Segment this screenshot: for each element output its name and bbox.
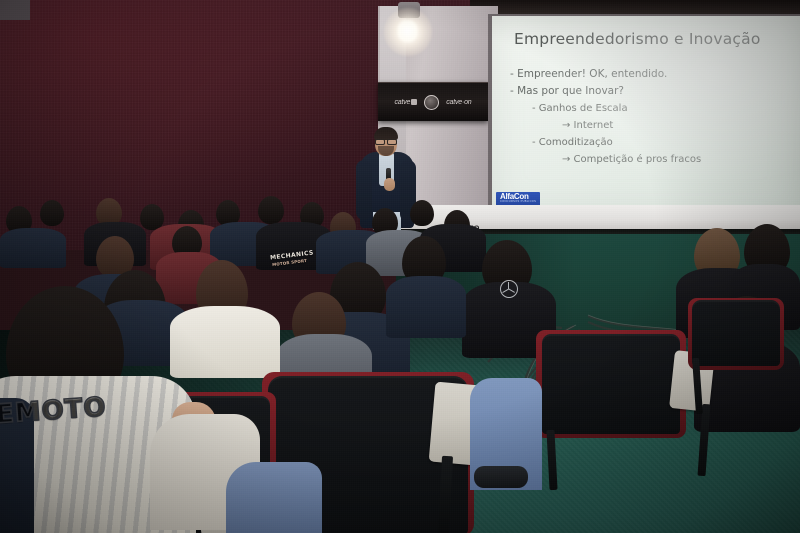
wall-panel-left [0, 0, 30, 20]
slide-body: - Empreender! OK, entendido. - Mas por q… [510, 66, 796, 168]
slide-bullet: - Comoditização [510, 134, 796, 151]
audience-body [386, 276, 466, 338]
audience-sweater [170, 306, 280, 378]
banner-circle-icon [424, 95, 439, 110]
slide-bullet: → Competição é pros fracos [510, 151, 796, 168]
audience-head [40, 200, 64, 226]
ceiling-lamp-core [398, 20, 417, 42]
audience-shoe [474, 466, 528, 488]
slide-bullet: - Ganhos de Escala [510, 100, 796, 117]
slide-bullet: → Internet [510, 117, 796, 134]
audience-jeans [226, 462, 322, 533]
speaker-hand [384, 178, 395, 191]
banner-square-icon [411, 99, 417, 105]
alfacon-logo: AlfaCon CONCURSOS PUBLICOS [496, 192, 540, 206]
audience-head [410, 200, 434, 226]
auditorium-photo: catve catve·on Empreendedorismo e Inovaç… [0, 0, 800, 533]
mercedes-star-icon [500, 280, 518, 298]
slide-title: Empreendedorismo e Inovação [514, 30, 800, 48]
alfacon-logo-tagline: CONCURSOS PUBLICOS [500, 201, 536, 204]
slide-bullet: - Empreender! OK, entendido. [510, 66, 796, 83]
banner-logo-left: catve [395, 99, 418, 106]
projection-screen: Empreendedorismo e Inovação - Empreender… [492, 16, 800, 212]
audience-head [258, 196, 284, 224]
glasses-icon [375, 139, 397, 143]
slide-bullet: - Mas por que Inovar? [510, 83, 796, 100]
banner-logo-right: catve·on [446, 99, 471, 106]
audience-body [0, 228, 66, 268]
chair-backrest [542, 334, 680, 434]
catve-banner-sign: catve catve·on [378, 82, 488, 121]
speaker-left-arm [356, 160, 372, 220]
chair-backrest [692, 300, 780, 366]
